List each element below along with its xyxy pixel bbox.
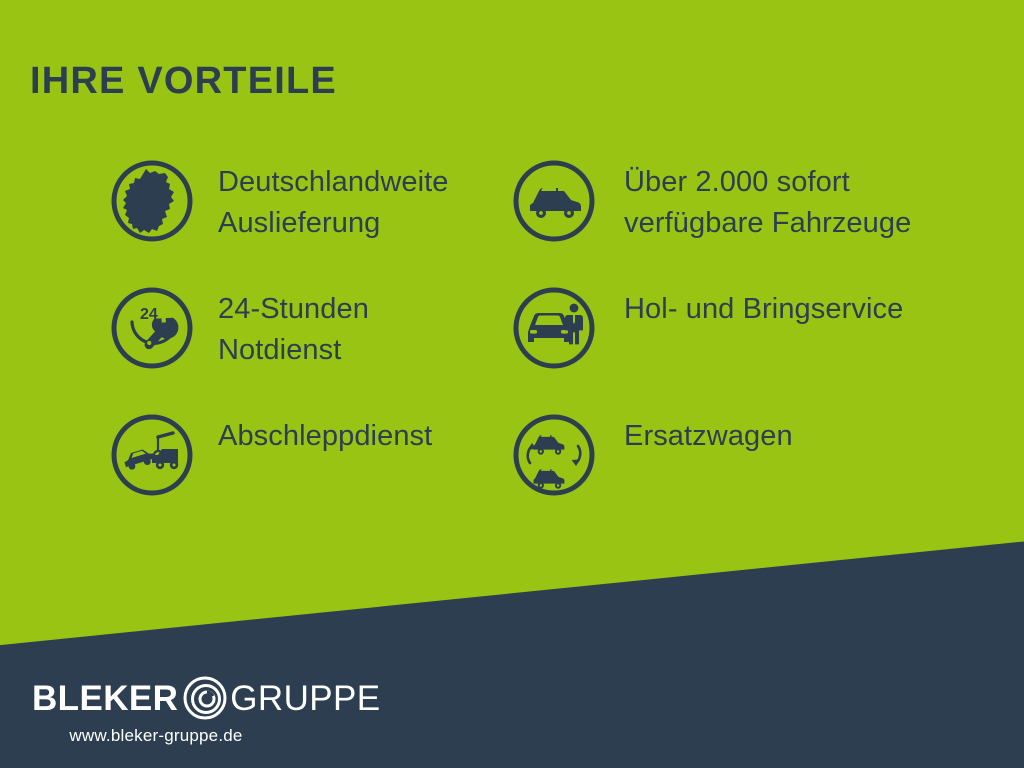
logo-primary-text: BLEKER	[32, 681, 178, 716]
feature-item: Über 2.000 sofort verfügbare Fahrzeuge	[512, 155, 972, 282]
brand-footer: BLEKER GRUPPE www.bleker-gruppe.de	[32, 676, 362, 756]
feature-label: Abschleppdienst	[218, 409, 432, 457]
feature-label: Über 2.000 sofort verfügbare Fahrzeuge	[624, 155, 911, 244]
features-right-column: Über 2.000 sofort verfügbare Fahrzeuge	[512, 155, 972, 536]
feature-item: Abschleppdienst	[110, 409, 510, 536]
logo-lockup: BLEKER GRUPPE	[32, 676, 362, 720]
logo-secondary-text: GRUPPE	[230, 681, 380, 716]
feature-item: Ersatzwagen	[512, 409, 972, 536]
tow-truck-icon	[110, 413, 194, 497]
website-url: www.bleker-gruppe.de	[32, 726, 280, 746]
car-side-icon	[512, 159, 596, 243]
car-exchange-icon	[512, 413, 596, 497]
feature-label: 24-Stunden Notdienst	[218, 282, 369, 371]
feature-label: Hol- und Bringservice	[624, 282, 903, 330]
24-hour-wrench-icon: 24	[110, 286, 194, 370]
features-left-column: Deutschlandweite Auslieferung 24	[110, 155, 510, 536]
feature-item: Deutschlandweite Auslieferung	[110, 155, 510, 282]
slide-canvas: IHRE VORTEILE Deutschlandweite Ausliefer…	[0, 0, 1024, 768]
feature-label: Ersatzwagen	[624, 409, 793, 457]
feature-item: 24 24-Stunden Notdienst	[110, 282, 510, 409]
car-with-driver-icon	[512, 286, 596, 370]
page-title: IHRE VORTEILE	[30, 62, 337, 100]
feature-item: Hol- und Bringservice	[512, 282, 972, 409]
feature-label: Deutschlandweite Auslieferung	[218, 155, 449, 244]
germany-map-icon	[110, 159, 194, 243]
spiral-circles-logo-icon	[182, 675, 228, 721]
